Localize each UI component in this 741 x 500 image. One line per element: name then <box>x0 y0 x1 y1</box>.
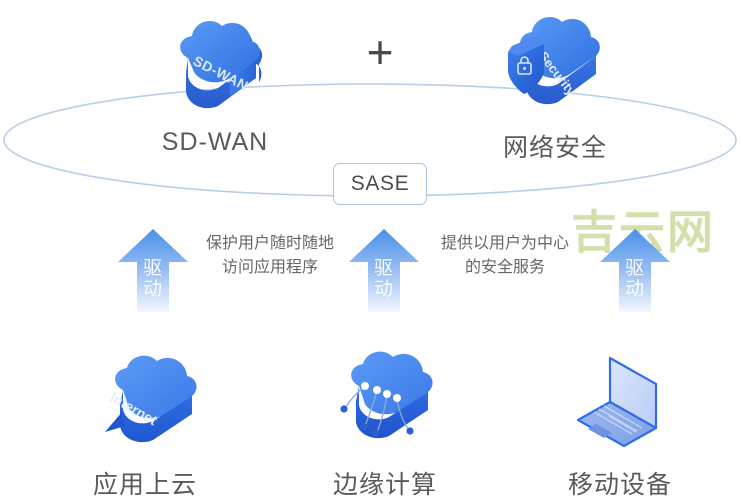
drive-arrow-left-text: 驱 动 <box>117 258 189 300</box>
sd-wan-label: SD-WAN <box>120 128 310 157</box>
bottom-item-edge-computing[interactable]: 边缘计算 <box>285 345 485 500</box>
drive-arrow-middle-text: 驱 动 <box>348 258 420 300</box>
drive-arrow-right-text: 驱 动 <box>599 258 671 300</box>
sd-wan-cloud-icon: SD-WAN <box>160 12 270 117</box>
sase-diagram: + SD-WAN <box>0 0 741 500</box>
edge-computing-cloud-icon <box>285 345 485 465</box>
bottom-item-mobile-device[interactable]: 移动设备 <box>520 345 720 500</box>
plus-icon: + <box>358 30 402 74</box>
bottom-label-edge-computing: 边缘计算 <box>285 465 485 500</box>
drive-arrow-middle: 驱 动 <box>348 228 420 312</box>
network-security-label: 网络安全 <box>460 128 650 164</box>
laptop-icon <box>520 345 720 465</box>
drive-arrow-left: 驱 动 <box>117 228 189 312</box>
bottom-label-app-cloud: 应用上云 <box>45 465 245 500</box>
bottom-label-mobile-device: 移动设备 <box>520 465 720 500</box>
sase-node-label: SASE <box>351 172 409 196</box>
drive-arrow-right: 驱 动 <box>599 228 671 312</box>
sase-node[interactable]: SASE <box>333 163 427 205</box>
bottom-item-app-cloud[interactable]: Internet 应用上云 <box>45 345 245 500</box>
security-cloud-shield-icon: Security <box>494 12 604 117</box>
description-right: 提供以用户为中心 的安全服务 <box>420 232 590 280</box>
description-left: 保护用户随时随地 访问应用程序 <box>185 232 355 280</box>
internet-cloud-icon: Internet <box>45 345 245 465</box>
